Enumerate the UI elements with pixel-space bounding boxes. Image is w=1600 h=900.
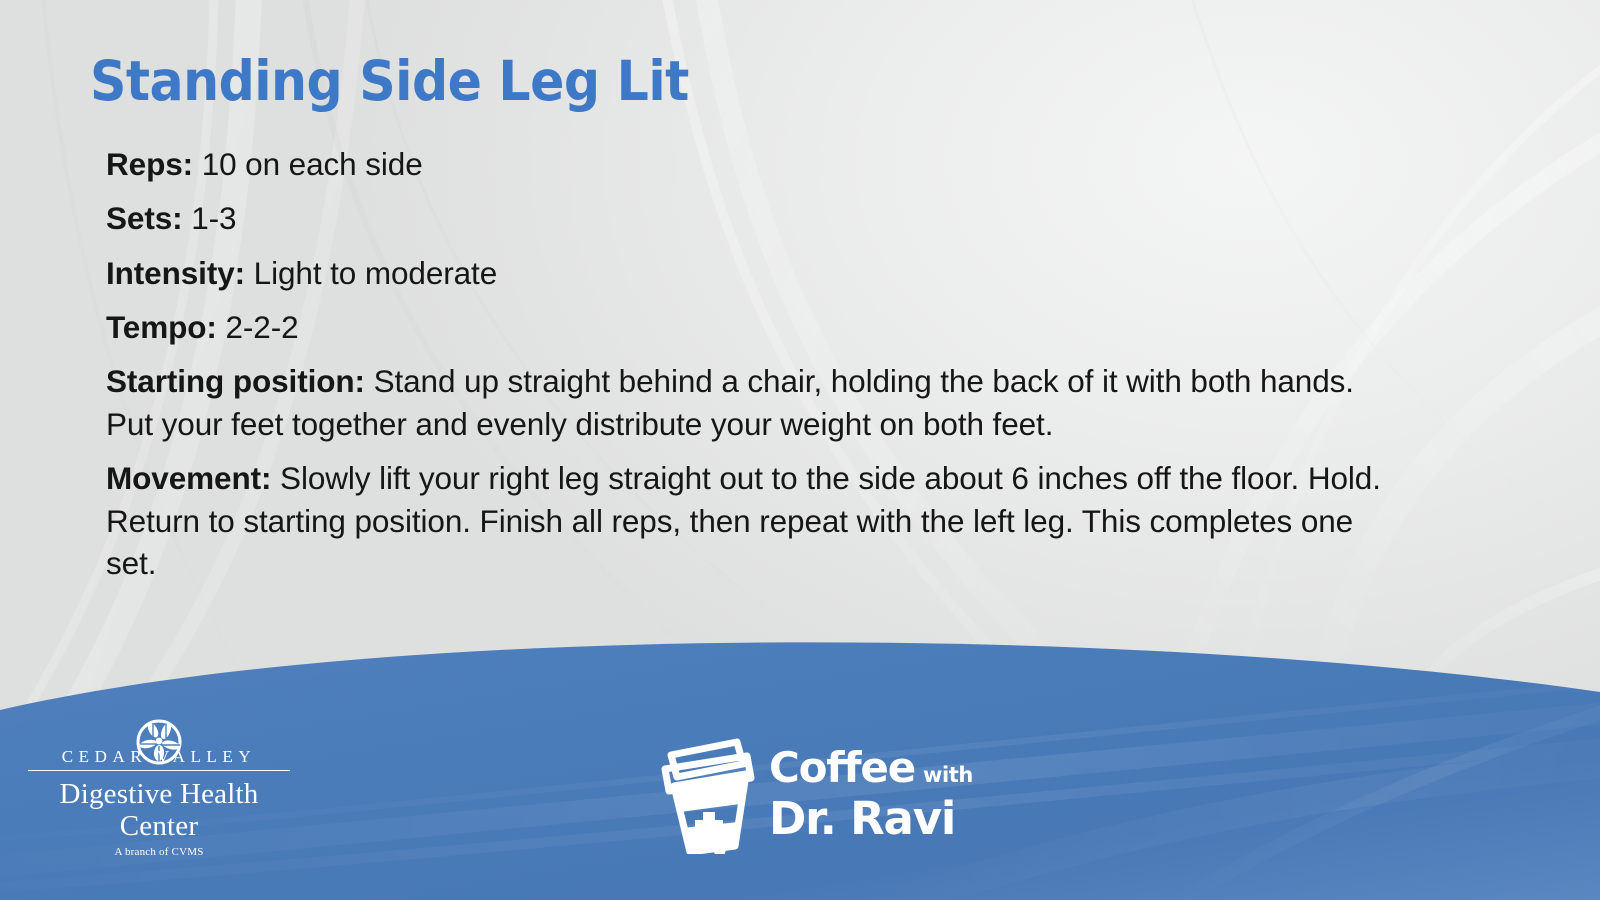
- exercise-details: Reps: 10 on each side Sets: 1-3 Intensit…: [106, 143, 1381, 584]
- detail-label-movement: Movement:: [106, 460, 271, 496]
- show-logo-line2: Dr. Ravi: [769, 796, 973, 841]
- detail-value-movement: Slowly lift your right leg straight out …: [106, 460, 1381, 581]
- slide-canvas: Standing Side Leg Lit Reps: 10 on each s…: [0, 0, 1600, 900]
- slide-title: Standing Side Leg Lit: [90, 51, 689, 113]
- detail-label-intensity: Intensity:: [106, 255, 245, 291]
- detail-row-starting-position: Starting position: Stand up straight beh…: [106, 360, 1381, 445]
- show-logo-line1: Coffee with: [769, 747, 973, 789]
- clinic-logo-wordmark: CEDAR VALLEY: [28, 748, 290, 771]
- clinic-logo: CEDAR VALLEY Digestive Health Center A b…: [28, 717, 290, 858]
- detail-label-sets: Sets:: [106, 200, 183, 236]
- detail-label-tempo: Tempo:: [106, 309, 217, 345]
- detail-value-intensity: Light to moderate: [254, 255, 497, 291]
- clinic-logo-branch: A branch of CVMS: [28, 846, 290, 858]
- detail-label-starting-position: Starting position:: [106, 363, 365, 399]
- detail-row-tempo: Tempo: 2-2-2: [106, 306, 1381, 348]
- detail-label-reps: Reps:: [106, 146, 193, 182]
- detail-row-movement: Movement: Slowly lift your right leg str…: [106, 457, 1381, 584]
- coffee-cup-medical-cross-icon: [655, 734, 759, 854]
- detail-value-tempo: 2-2-2: [225, 309, 298, 345]
- detail-row-intensity: Intensity: Light to moderate: [106, 252, 1381, 294]
- clinic-logo-name: Digestive Health Center: [28, 779, 290, 843]
- detail-value-sets: 1-3: [191, 200, 236, 236]
- detail-value-reps: 10 on each side: [202, 146, 423, 182]
- detail-row-sets: Sets: 1-3: [106, 197, 1381, 239]
- show-logo-text: Coffee with Dr. Ravi: [769, 747, 973, 841]
- show-logo-coffee: Coffee: [769, 747, 915, 789]
- clinic-logo-emblem-row: CEDAR VALLEY: [28, 717, 290, 773]
- show-logo: Coffee with Dr. Ravi: [655, 736, 973, 852]
- detail-row-reps: Reps: 10 on each side: [106, 143, 1381, 185]
- show-logo-with: with: [923, 765, 973, 786]
